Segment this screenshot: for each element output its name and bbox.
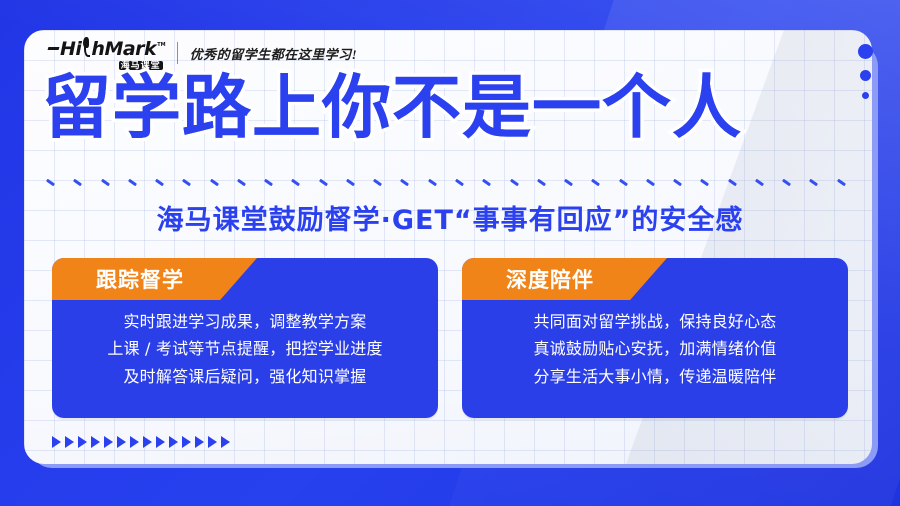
card-tab-label: 跟踪督学 [96, 264, 184, 294]
card-line: 真诚鼓励贴心安抚，加满情绪价值 [533, 337, 776, 361]
poster-canvas: HihMarkTM 海马课堂 优秀的留学生都在这里学习! 留学路上你不是一个人 … [0, 0, 900, 506]
card-line: 上课 / 考试等节点提醒，把控学业进度 [107, 337, 382, 361]
card-line: 分享生活大事小情，传递温暖陪伴 [533, 365, 776, 389]
tick-dash-icon [619, 178, 628, 186]
arrow-right-icon [156, 436, 165, 448]
tick-dash-icon [210, 178, 219, 186]
tick-dash-icon [400, 178, 409, 186]
tick-dash-icon [373, 178, 382, 186]
tick-dash-icon [482, 178, 491, 186]
arrow-right-icon [78, 436, 87, 448]
feature-card-list: 跟踪督学 实时跟进学习成果，调整教学方案 上课 / 考试等节点提醒，把控学业进度… [52, 258, 848, 418]
card-line: 实时跟进学习成果，调整教学方案 [123, 310, 366, 334]
tick-dash-icon [755, 178, 764, 186]
dot-medium-icon [860, 70, 871, 81]
arrow-right-icon [104, 436, 113, 448]
tick-dash-icon [646, 178, 655, 186]
arrow-right-icon [130, 436, 139, 448]
feature-card: 跟踪督学 实时跟进学习成果，调整教学方案 上课 / 考试等节点提醒，把控学业进度… [52, 258, 438, 418]
logo-wordmark: HihMarkTM [48, 36, 165, 59]
feature-card: 深度陪伴 共同面对留学挑战，保持良好心态 真诚鼓励贴心安抚，加满情绪价值 分享生… [462, 258, 848, 418]
logo-wordmark-prefix: Hi [60, 40, 81, 59]
tick-dash-icon [455, 178, 464, 186]
page-subtitle: 海马课堂鼓励督学·GET“事事有回应”的安全感 [0, 198, 900, 237]
highmark-logo: HihMarkTM 海马课堂 [48, 36, 165, 70]
card-body: 实时跟进学习成果，调整教学方案 上课 / 考试等节点提醒，把控学业进度 及时解答… [52, 310, 438, 389]
arrow-right-icon [182, 436, 191, 448]
tick-dash-icon [837, 178, 846, 186]
tick-dash-icon [155, 178, 164, 186]
tick-dash-icon [100, 178, 109, 186]
tick-dash-icon [700, 178, 709, 186]
tick-dash-icon [809, 178, 818, 186]
tick-dash-icon [264, 178, 273, 186]
card-tab-label: 深度陪伴 [506, 264, 594, 294]
tick-dash-icon [182, 178, 191, 186]
seahorse-icon [81, 36, 91, 55]
tick-dash-icon [291, 178, 300, 186]
tick-dash-icon [128, 178, 137, 186]
arrow-right-icon [52, 436, 61, 448]
tick-dash-icon [537, 178, 546, 186]
arrow-right-icon [221, 436, 230, 448]
tick-dash-icon [46, 178, 55, 186]
arrow-strip [52, 436, 230, 448]
tick-dash-icon [591, 178, 600, 186]
brand-lockup: HihMarkTM 海马课堂 优秀的留学生都在这里学习! [48, 36, 357, 70]
brand-divider [177, 42, 178, 64]
card-body: 共同面对留学挑战，保持良好心态 真诚鼓励贴心安抚，加满情绪价值 分享生活大事小情… [462, 310, 848, 389]
trademark-icon: TM [157, 43, 165, 48]
tick-dash-icon [237, 178, 246, 186]
arrow-right-icon [117, 436, 126, 448]
tick-dash-icon [673, 178, 682, 186]
card-line: 共同面对留学挑战，保持良好心态 [533, 310, 776, 334]
tick-dash-icon [509, 178, 518, 186]
card-tab: 深度陪伴 [462, 258, 667, 300]
arrow-right-icon [195, 436, 204, 448]
arrow-right-icon [169, 436, 178, 448]
dot-large-icon [858, 44, 873, 59]
tick-dash-icon [73, 178, 82, 186]
tick-divider [46, 175, 846, 189]
page-title: 留学路上你不是一个人 [42, 74, 852, 143]
dot-small-icon [862, 92, 869, 99]
arrow-right-icon [208, 436, 217, 448]
arrow-right-icon [91, 436, 100, 448]
logo-dash-icon [48, 47, 60, 50]
tick-dash-icon [319, 178, 328, 186]
tick-dash-icon [346, 178, 355, 186]
tick-dash-icon [782, 178, 791, 186]
arrow-right-icon [65, 436, 74, 448]
tick-dash-icon [564, 178, 573, 186]
card-line: 及时解答课后疑问，强化知识掌握 [123, 365, 366, 389]
logo-wordmark-suffix: hMark [91, 40, 156, 59]
brand-tagline: 优秀的留学生都在这里学习! [190, 44, 358, 63]
tick-dash-icon [428, 178, 437, 186]
tick-dash-icon [728, 178, 737, 186]
dot-decoration [852, 44, 878, 99]
arrow-right-icon [143, 436, 152, 448]
card-tab: 跟踪督学 [52, 258, 257, 300]
